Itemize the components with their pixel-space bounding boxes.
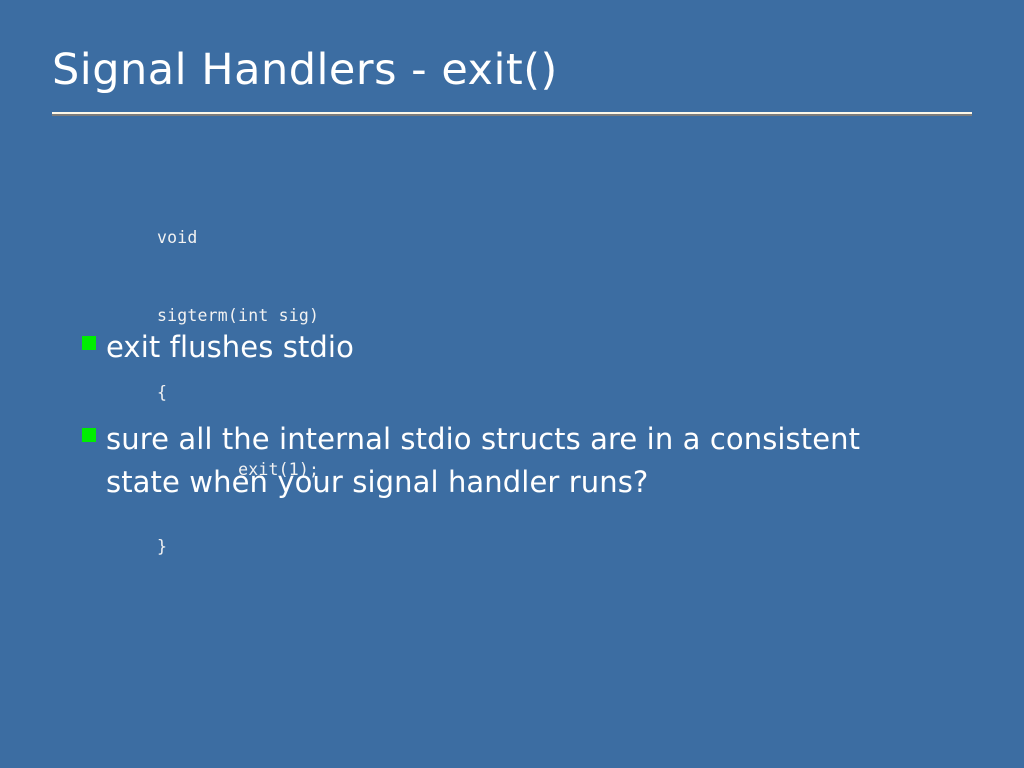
list-item-label: sure all the internal stdio structs are … [106,418,936,504]
title-divider [52,112,972,116]
list-item-label: exit flushes stdio [106,326,962,369]
page-title: Signal Handlers - exit() [52,44,972,96]
list-item: sure all the internal stdio structs are … [82,418,962,504]
code-line: sigterm(int sig) [157,303,319,329]
presentation-slide: Signal Handlers - exit() void sigterm(in… [0,0,1024,768]
square-bullet-icon [82,428,96,442]
square-bullet-icon [82,336,96,350]
title-divider-shadow [52,114,972,116]
bullet-list: exit flushes stdio sure all the internal… [82,326,962,504]
code-line: } [157,534,319,560]
code-line: void [157,225,319,251]
slide-title-block: Signal Handlers - exit() [52,44,972,96]
list-item: exit flushes stdio [82,326,962,369]
